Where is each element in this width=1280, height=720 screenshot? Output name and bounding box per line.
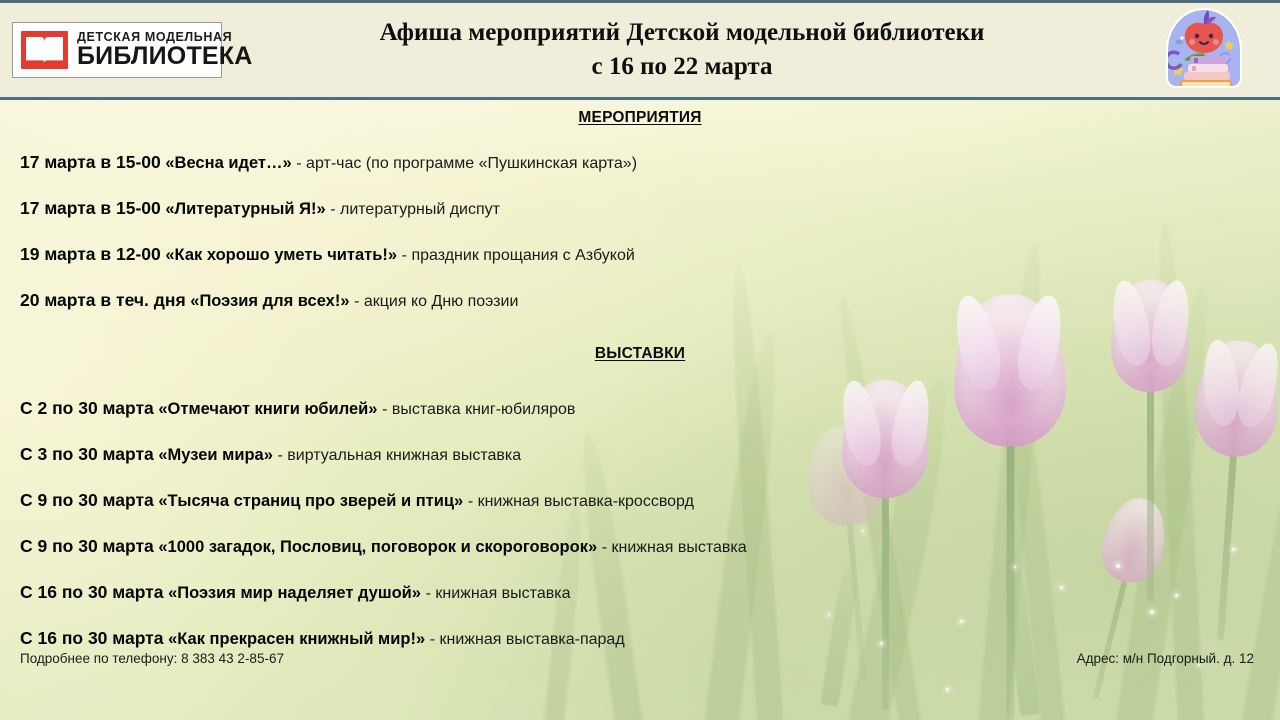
- exhibition-when: С 9 по 30 марта: [20, 536, 154, 556]
- footer-address: Адрес: м/н Подгорный. д. 12: [1077, 651, 1254, 666]
- exhibition-name: «Поэзия мир наделяет душой»: [168, 584, 421, 602]
- event-desc: - праздник прощания с Азбукой: [402, 247, 635, 264]
- exhibition-desc: - книжная выставка: [426, 585, 571, 602]
- list-item: С 9 по 30 марта «1000 загадок, Пословиц,…: [20, 538, 747, 556]
- list-item: 20 марта в теч. дня «Поэзия для всех!» -…: [20, 292, 637, 310]
- exhibition-desc: - виртуальная книжная выставка: [278, 447, 522, 464]
- exhibition-name: «Как прекрасен книжный мир!»: [168, 630, 425, 648]
- list-item: С 2 по 30 марта «Отмечают книги юбилей» …: [20, 400, 747, 418]
- footer-phone: Подробнее по телефону: 8 383 43 2-85-67: [20, 651, 284, 666]
- list-item: 17 марта в 15-00 «Литературный Я!» - лит…: [20, 200, 637, 218]
- event-name: «Как хорошо уметь читать!»: [165, 246, 397, 264]
- exhibition-desc: - книжная выставка-парад: [430, 631, 625, 648]
- exhibition-when: С 2 по 30 марта: [20, 398, 154, 418]
- apple-on-books-icon: [1162, 4, 1246, 96]
- poster-header: ДЕТСКАЯ МОДЕЛЬНАЯ БИБЛИОТЕКА Афиша мероп…: [0, 0, 1280, 100]
- exhibition-when: С 3 по 30 марта: [20, 444, 154, 464]
- exhibition-desc: - книжная выставка-кроссворд: [468, 493, 694, 510]
- open-book-icon: [21, 31, 68, 69]
- exhibition-name: «Отмечают книги юбилей»: [158, 400, 377, 418]
- events-list: 17 марта в 15-00 «Весна идет…» - арт-час…: [20, 154, 637, 310]
- section-heading-events: МЕРОПРИЯТИЯ: [0, 109, 1280, 127]
- library-logo: ДЕТСКАЯ МОДЕЛЬНАЯ БИБЛИОТЕКА: [12, 22, 222, 78]
- exhibition-name: «Музеи мира»: [158, 446, 273, 464]
- exhibitions-list: С 2 по 30 марта «Отмечают книги юбилей» …: [20, 400, 747, 648]
- event-name: «Литературный Я!»: [165, 200, 325, 218]
- event-when: 19 марта в 12-00: [20, 244, 161, 264]
- list-item: С 16 по 30 марта «Как прекрасен книжный …: [20, 630, 747, 648]
- list-item: С 16 по 30 марта «Поэзия мир наделяет ду…: [20, 584, 747, 602]
- list-item: С 3 по 30 марта «Музеи мира» - виртуальн…: [20, 446, 747, 464]
- poster-root: ДЕТСКАЯ МОДЕЛЬНАЯ БИБЛИОТЕКА Афиша мероп…: [0, 0, 1280, 720]
- event-desc: - литературный диспут: [330, 201, 500, 218]
- exhibition-desc: - книжная выставка: [602, 539, 747, 556]
- event-desc: - акция ко Дню поэзии: [354, 293, 518, 310]
- poster-content: МЕРОПРИЯТИЯ 17 марта в 15-00 «Весна идет…: [0, 100, 1280, 720]
- event-when: 17 марта в 15-00: [20, 152, 161, 172]
- poster-title-line-2: с 16 по 22 марта: [222, 50, 1142, 84]
- list-item: С 9 по 30 марта «Тысяча страниц про звер…: [20, 492, 747, 510]
- event-when: 17 марта в 15-00: [20, 198, 161, 218]
- exhibition-name: «1000 загадок, Пословиц, поговорок и ско…: [158, 538, 597, 556]
- event-name: «Поэзия для всех!»: [190, 292, 349, 310]
- exhibition-when: С 16 по 30 марта: [20, 628, 164, 648]
- poster-title-line-1: Афиша мероприятий Детской модельной библ…: [222, 16, 1142, 50]
- list-item: 17 марта в 15-00 «Весна идет…» - арт-час…: [20, 154, 637, 172]
- exhibition-desc: - выставка книг-юбиляров: [382, 401, 575, 418]
- poster-title: Афиша мероприятий Детской модельной библ…: [222, 16, 1162, 84]
- exhibition-when: С 16 по 30 марта: [20, 582, 164, 602]
- event-desc: - арт-час (по программе «Пушкинская карт…: [296, 155, 637, 172]
- section-heading-exhibitions: ВЫСТАВКИ: [0, 345, 1280, 363]
- list-item: 19 марта в 12-00 «Как хорошо уметь читат…: [20, 246, 637, 264]
- exhibition-name: «Тысяча страниц про зверей и птиц»: [158, 492, 463, 510]
- event-when: 20 марта в теч. дня: [20, 290, 186, 310]
- event-name: «Весна идет…»: [165, 154, 291, 172]
- exhibition-when: С 9 по 30 марта: [20, 490, 154, 510]
